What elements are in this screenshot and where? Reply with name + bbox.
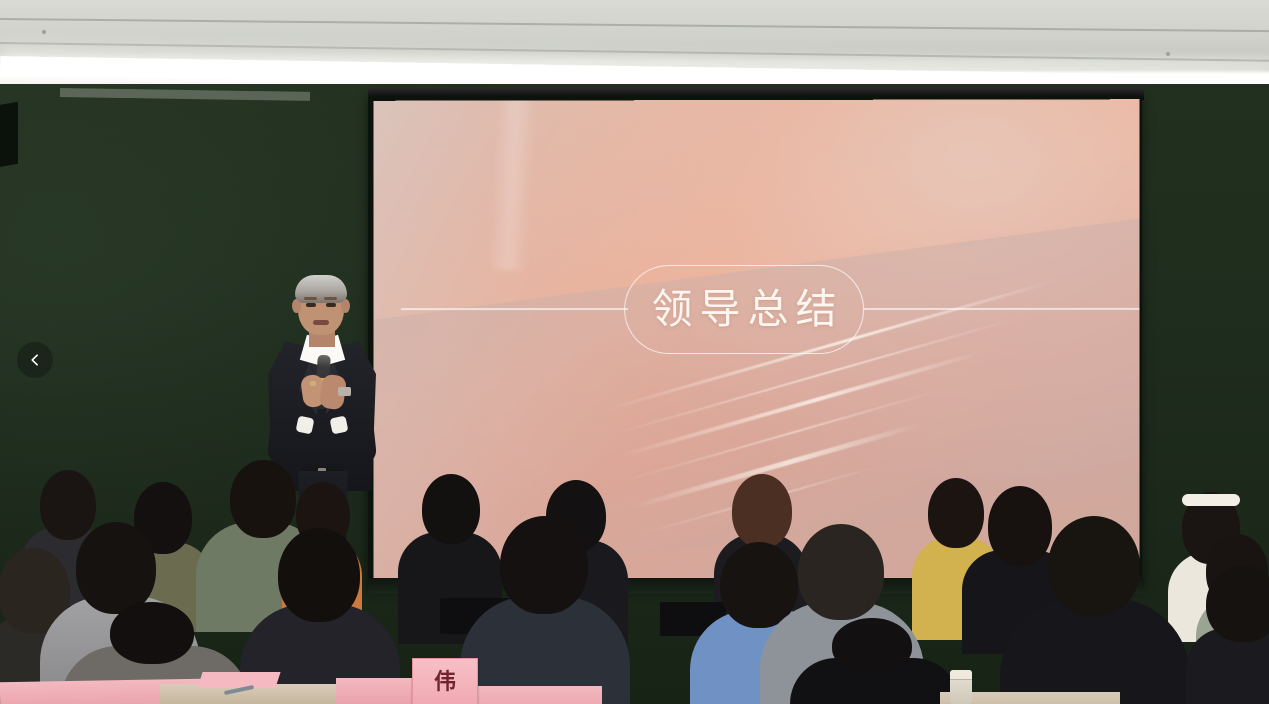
presenter-eye-right [326,303,336,307]
paper-sheet [197,672,280,688]
list-item [790,618,960,704]
attendee-head [110,602,194,664]
chevron-left-icon [28,353,42,367]
list-item [460,516,630,704]
ceiling-speaker-box [0,102,18,169]
attendee-head [1206,566,1269,642]
presenter-mouth [313,320,329,325]
attendee-head [832,618,912,674]
prev-slide-button[interactable] [17,342,53,378]
bottle-cap [950,670,972,680]
presentation-photo: 领导总结 [0,0,1269,704]
ceiling-fixture-dot [42,30,46,34]
presenter-eye-left [306,303,316,307]
presenter-brow-right [324,297,337,300]
audience [0,430,1269,704]
list-item [1000,516,1190,704]
ceiling-seam [0,18,1269,32]
presenter-ring [310,381,316,386]
slide-title: 领导总结 [645,289,844,330]
headband-icon [1182,494,1240,506]
presenter-brow-left [304,297,317,300]
placard-text: 伟 [434,671,456,693]
title-rule-left [401,308,628,310]
attendee-head [76,522,156,614]
slide-title-pill: 领导总结 [624,265,864,354]
presenter-watch [338,387,351,396]
list-item [1186,566,1269,704]
presenter-hair [295,275,347,303]
attendee-head [500,516,588,614]
title-rule-right [864,308,1139,310]
attendee-head [798,524,884,620]
ceiling-fixture-dot [1166,52,1170,56]
attendee-head [278,528,360,622]
name-placard: 伟 [412,658,478,704]
attendee-head [1048,516,1140,616]
